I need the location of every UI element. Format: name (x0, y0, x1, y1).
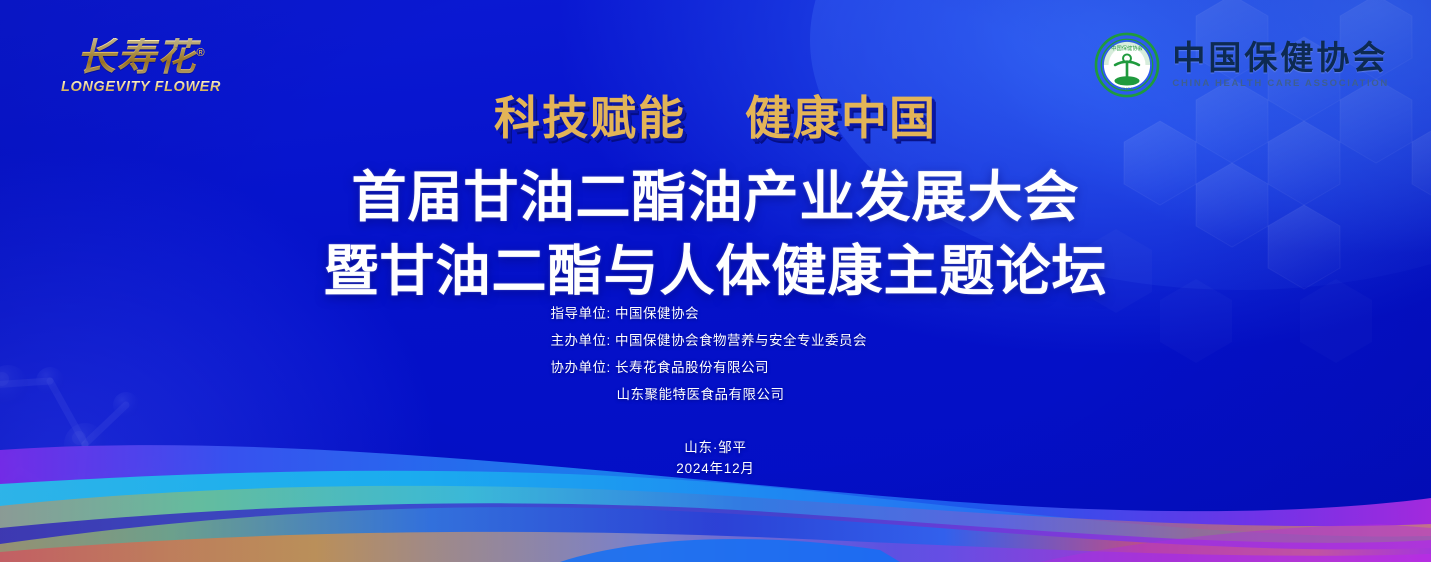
organizer-line: 指导单位: 中国保健协会 (551, 300, 881, 327)
banner-kicker: 科技赋能 健康中国 (0, 82, 1431, 148)
organizer-line: 主办单位: 中国保健协会食物营养与安全专业委员会 (551, 327, 881, 354)
association-name-cn: 中国保健协会 (1172, 41, 1389, 76)
logo-cn-text: 长寿花 (76, 36, 196, 79)
banner-title-line-1: 首届甘油二酯油产业发展大会 (0, 152, 1431, 232)
conference-banner: 长寿花® LONGEVITY FLOWER 中国保健协会 CHCA 中国保健协会… (0, 0, 1431, 562)
registered-trademark-icon: ® (196, 47, 205, 59)
longevity-flower-logo-cn: 长寿花® (76, 38, 205, 77)
organizer-list: 指导单位: 中国保健协会 主办单位: 中国保健协会食物营养与安全专业委员会 协办… (0, 300, 1431, 408)
organizer-line: 协办单位: 长寿花食品股份有限公司 (551, 354, 881, 381)
bottom-wave-decoration (0, 432, 1431, 562)
organizer-line: 山东聚能特医食品有限公司 (551, 381, 881, 408)
banner-title-line-2: 暨甘油二酯与人体健康主题论坛 (0, 226, 1431, 306)
